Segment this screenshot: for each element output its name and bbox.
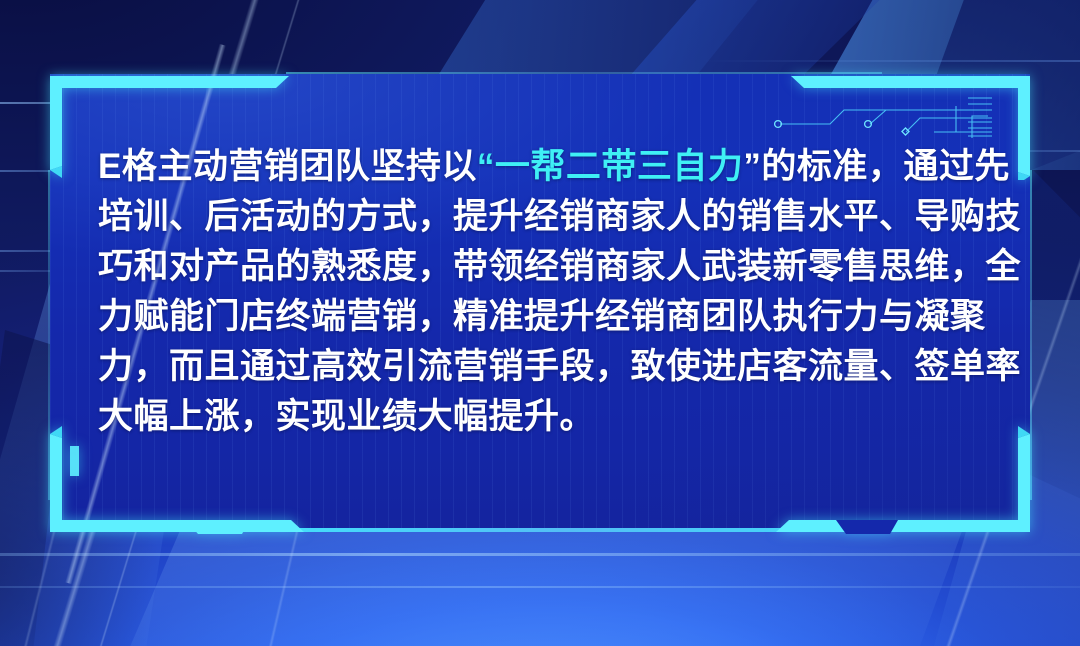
body-line: 巧和对产品的熟悉度，带领经销商家人武装新零售思维，全: [98, 242, 988, 292]
text-segment: 大幅上涨，实现业绩大幅提升。: [98, 397, 595, 436]
text-segment: 巧和对产品的熟悉度，带领经销商家人武装新零售思维，全: [98, 247, 1021, 286]
body-line: 大幅上涨，实现业绩大幅提升。: [98, 392, 988, 442]
text-segment: 力，而且通过高效引流营销手段，致使进店客流量、签单率: [98, 347, 1021, 386]
body-line: 培训、后活动的方式，提升经销商家人的销售水平、导购技: [98, 192, 988, 242]
text-segment: E格主动营销团队坚持以: [98, 147, 477, 186]
body-copy: E格主动营销团队坚持以“一帮二带三自力”的标准，通过先 培训、后活动的方式，提升…: [98, 142, 988, 442]
body-line: 力，而且通过高效引流营销手段，致使进店客流量、签单率: [98, 342, 988, 392]
content-panel: E格主动营销团队坚持以“一帮二带三自力”的标准，通过先 培训、后活动的方式，提升…: [50, 74, 1030, 528]
body-line: E格主动营销团队坚持以“一帮二带三自力”的标准，通过先: [98, 142, 988, 192]
text-segment-highlight: “一帮二带三自力: [477, 147, 744, 186]
text-segment: 力赋能门店终端营销，精准提升经销商团队执行力与凝聚: [98, 297, 986, 336]
text-segment: 培训、后活动的方式，提升经销商家人的销售水平、导购技: [98, 197, 1021, 236]
slide-canvas: E格主动营销团队坚持以“一帮二带三自力”的标准，通过先 培训、后活动的方式，提升…: [0, 0, 1080, 646]
body-line: 力赋能门店终端营销，精准提升经销商团队执行力与凝聚: [98, 292, 988, 342]
text-segment: ”的标准，通过先: [743, 147, 1010, 186]
